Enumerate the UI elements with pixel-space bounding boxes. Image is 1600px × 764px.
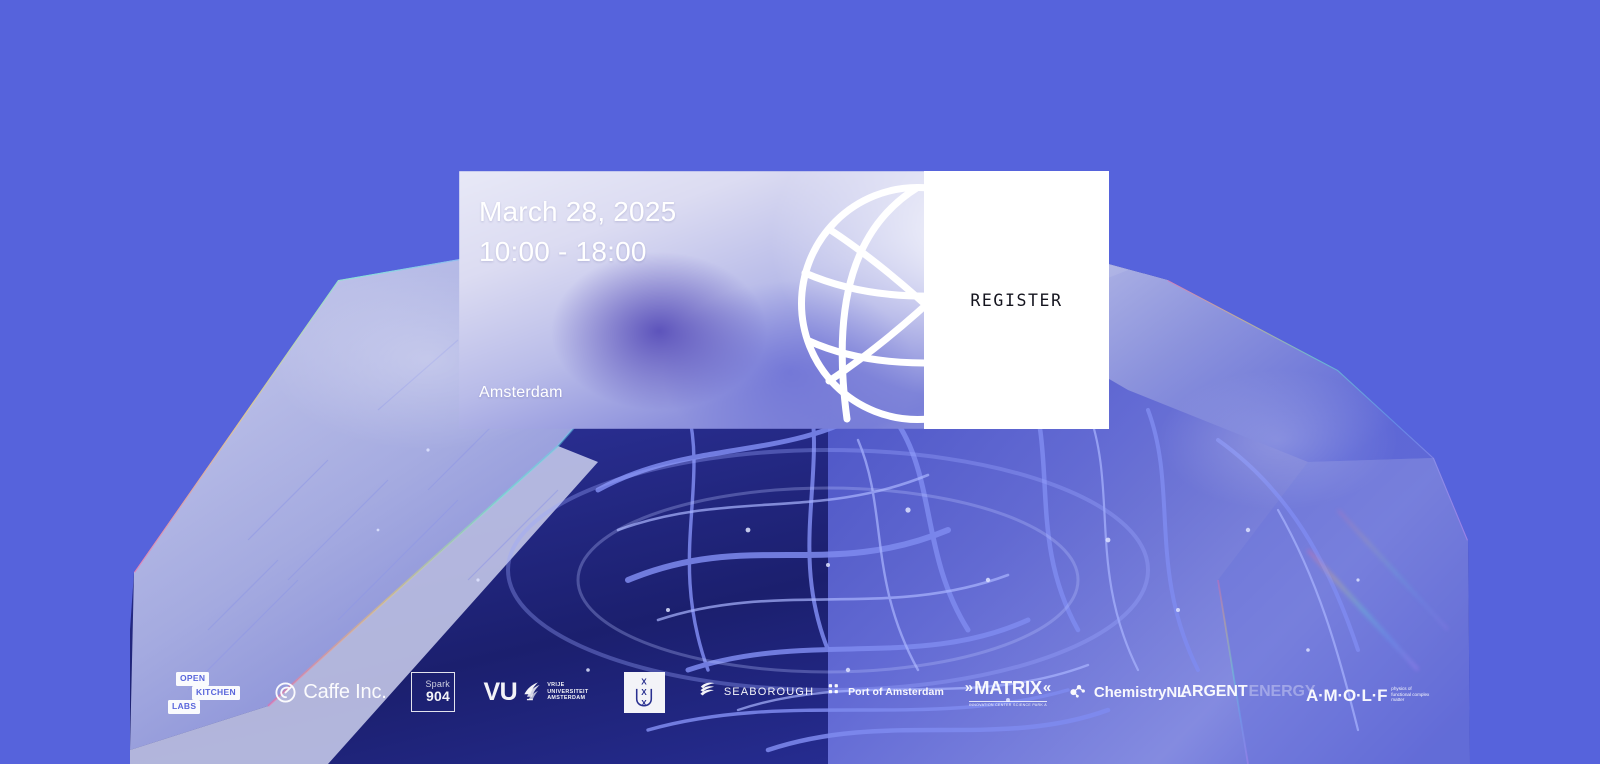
spark-word: Spark <box>425 679 450 689</box>
partner-logo-port-of-amsterdam[interactable]: Port of Amsterdam <box>820 660 952 724</box>
caffe-circle-icon <box>275 682 296 703</box>
partner-logo-caffe-inc[interactable]: Caffe Inc. <box>272 660 390 724</box>
okl-line-open: OPEN <box>176 672 209 686</box>
caffe-inc-wordmark: Caffe Inc. <box>303 681 386 704</box>
hero-stage: March 28, 2025 10:00 - 18:00 Amsterdam R… <box>0 0 1600 764</box>
event-datetime: March 28, 2025 10:00 - 18:00 <box>479 192 676 272</box>
molecule-icon <box>1068 680 1088 705</box>
spark-904-box: Spark 904 <box>411 672 455 712</box>
okl-line-labs: LABS <box>168 700 200 714</box>
partner-logo-spark-904[interactable]: Spark 904 <box>390 660 476 724</box>
matrix-subtitle: INNOVATION CENTER SCIENCE PARK AMSTERDAM <box>969 701 1047 708</box>
partner-logo-open-kitchen-labs[interactable]: OPEN KITCHEN LABS <box>166 660 272 724</box>
partner-logo-vu-amsterdam[interactable]: VU VRIJE UNIVERSITEIT AMSTERDAM <box>476 660 596 724</box>
argent-wordmark: ARGENT <box>1181 683 1248 701</box>
matrix-wordmark: MATRIX <box>974 677 1042 699</box>
partner-logo-seaborough[interactable]: SEABOROUGH <box>692 660 820 724</box>
svg-text:X: X <box>641 688 647 697</box>
uva-three-crosses-icon: X X X <box>624 672 665 713</box>
okl-line-kitchen: KITCHEN <box>192 686 240 700</box>
partner-logo-matrix[interactable]: » MATRIX « INNOVATION CENTER SCIENCE PAR… <box>952 660 1064 724</box>
partner-logo-strip: OPEN KITCHEN LABS Caffe Inc. Spark 904 <box>0 660 1600 724</box>
partner-logo-university-of-amsterdam[interactable]: X X X <box>596 660 692 724</box>
port-dots-icon <box>828 683 842 702</box>
chemistrynl-wordmark: ChemistryNL <box>1094 684 1186 701</box>
partner-logo-amolf[interactable]: A·M·O·L·F physics of functional complex … <box>1306 660 1434 724</box>
vu-letters: VU <box>483 680 517 705</box>
svg-text:X: X <box>641 699 647 708</box>
amolf-wordmark: A·M·O·L·F <box>1306 687 1387 704</box>
seaborough-wordmark: SEABOROUGH <box>724 686 814 698</box>
vu-subtitle: VRIJE UNIVERSITEIT AMSTERDAM <box>547 682 588 702</box>
partner-logo-argent-energy[interactable]: ARGENT ENERGY <box>1190 660 1306 724</box>
event-location: Amsterdam <box>479 383 563 403</box>
seaborough-wave-icon <box>698 680 717 704</box>
matrix-chevron-right: « <box>1043 680 1051 695</box>
spark-number: 904 <box>426 689 450 703</box>
matrix-wordmark-row: » MATRIX « <box>965 677 1051 699</box>
register-button-label: REGISTER <box>970 291 1062 310</box>
partner-logo-chemistrynl[interactable]: ChemistryNL <box>1064 660 1190 724</box>
svg-text:X: X <box>641 677 647 686</box>
amolf-subtitle: physics of functional complex matter <box>1391 686 1434 704</box>
matrix-chevron-left: » <box>965 680 973 695</box>
port-of-amsterdam-wordmark: Port of Amsterdam <box>848 686 944 698</box>
register-button[interactable]: REGISTER <box>924 171 1109 429</box>
vu-griffin-icon <box>521 678 543 707</box>
event-hero-card: March 28, 2025 10:00 - 18:00 Amsterdam R… <box>459 171 1109 429</box>
